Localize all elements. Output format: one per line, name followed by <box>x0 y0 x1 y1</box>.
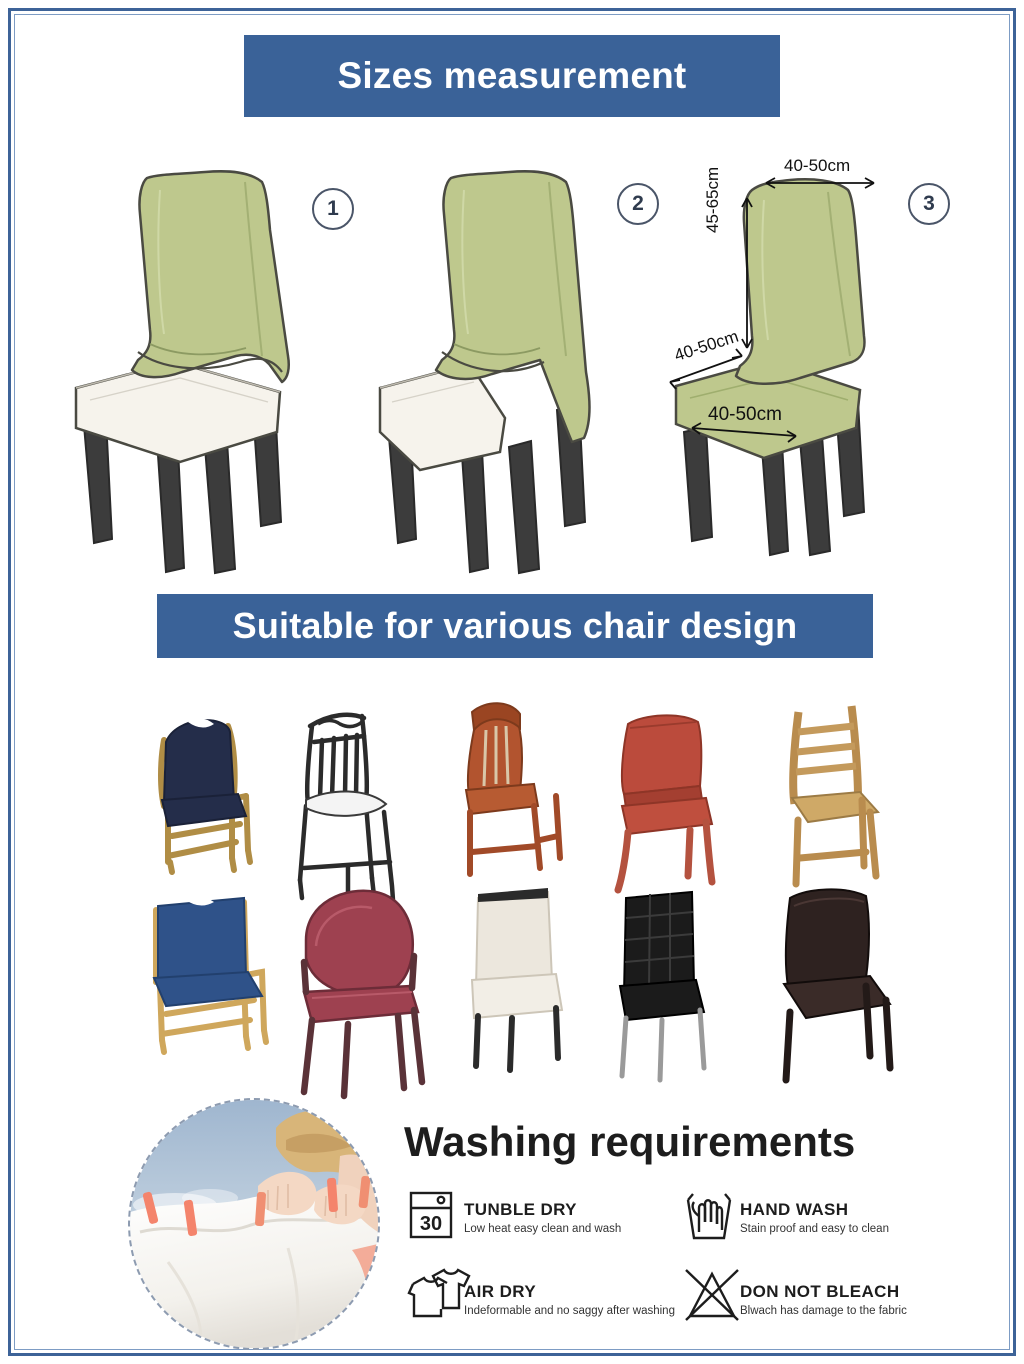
gallery-chair-burgundy-round-back <box>304 891 422 1096</box>
care-item-do-not-bleach: DON NOT BLEACH Blwach has damage to the … <box>680 1276 907 1322</box>
gallery-chair-cherry-fan-back <box>466 703 560 874</box>
hand-wash-icon <box>680 1194 728 1240</box>
care-item-hand-wash: HAND WASH Stain proof and easy to clean <box>680 1194 889 1240</box>
gallery-chair-gold-banquet-navy <box>161 718 250 872</box>
care-item-air-dry: AIR DRY Indeformable and no saggy after … <box>404 1276 675 1322</box>
infographic-page: 30 Sizes measurement Suitable for <box>0 0 1024 1364</box>
do-not-bleach-icon <box>680 1276 728 1322</box>
step-badge-3: 3 <box>908 183 950 225</box>
gallery-chair-gold-banquet-blue <box>154 896 266 1052</box>
air-dry-shirts-icon <box>404 1276 452 1322</box>
gallery-chair-dark-brown-leather <box>784 889 890 1080</box>
measurement-seat-width: 40-50cm <box>708 404 782 426</box>
step-badge-2: 2 <box>617 183 659 225</box>
banner-sizes-label: Sizes measurement <box>338 55 687 97</box>
step-3-chair-illustration <box>670 178 874 555</box>
care-desc-do-not-bleach: Blwach has damage to the fabric <box>740 1305 907 1317</box>
care-title-air-dry: AIR DRY <box>464 1282 675 1302</box>
gallery-chair-black-metal-spindle <box>300 715 393 900</box>
care-desc-hand-wash: Stain proof and easy to clean <box>740 1223 889 1235</box>
gallery-chair-cream-covered <box>472 888 562 1070</box>
laundry-photo-circle <box>128 1098 380 1350</box>
care-title-tumble-dry: TUNBLE DRY <box>464 1200 621 1220</box>
care-desc-air-dry: Indeformable and no saggy after washing <box>464 1305 675 1317</box>
step-2-chair-illustration <box>380 171 590 573</box>
banner-suitable-label: Suitable for various chair design <box>233 605 798 647</box>
washing-requirements-title: Washing requirements <box>404 1118 855 1166</box>
measurement-back-height: 45-65cm <box>703 167 723 233</box>
banner-suitable-chair-design: Suitable for various chair design <box>157 594 873 658</box>
measurement-back-width: 40-50cm <box>784 156 850 176</box>
gallery-chair-red-leather <box>618 715 712 890</box>
gallery-chair-oak-ladder-back <box>792 710 878 884</box>
step-1-chair-illustration <box>76 171 289 573</box>
gallery-chair-black-panel-back <box>620 892 704 1080</box>
care-item-tumble-dry: TUNBLE DRY Low heat easy clean and wash <box>404 1194 621 1240</box>
step-badge-1: 1 <box>312 188 354 230</box>
washing-machine-30-icon <box>404 1194 452 1240</box>
care-title-hand-wash: HAND WASH <box>740 1200 889 1220</box>
care-desc-tumble-dry: Low heat easy clean and wash <box>464 1223 621 1235</box>
banner-sizes-measurement: Sizes measurement <box>244 35 780 117</box>
care-title-do-not-bleach: DON NOT BLEACH <box>740 1282 907 1302</box>
